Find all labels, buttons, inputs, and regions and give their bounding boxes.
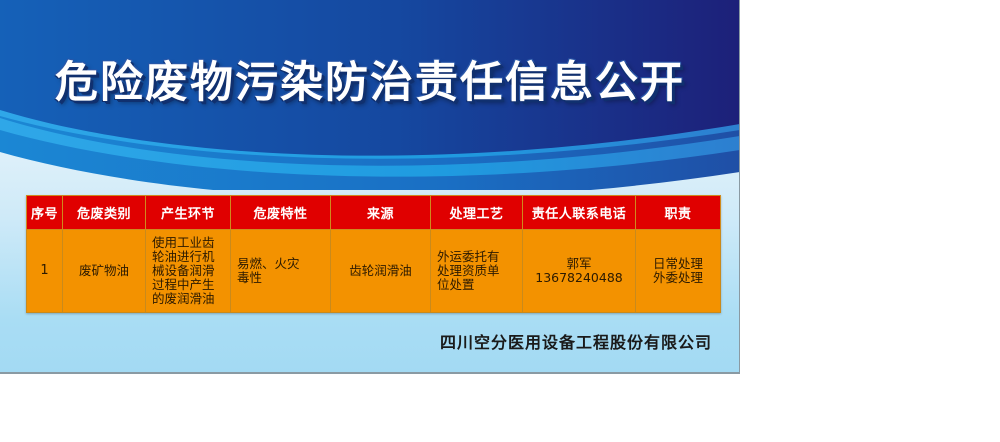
information-disclosure-poster: 危险废物污染防治责任信息公开 序号 危废类别 产生环节 危废特性 来源 处理工艺… [0, 0, 740, 374]
cell-category: 废矿物油 [63, 230, 146, 313]
cell-contact: 郭军 13678240488 [523, 230, 636, 313]
cell-treatment-line: 处理资质单 [437, 264, 519, 278]
table-header-row: 序号 危废类别 产生环节 危废特性 来源 处理工艺 责任人联系电话 职责 [27, 196, 721, 230]
column-header-seq: 序号 [27, 196, 63, 230]
column-header-hazard: 危废特性 [231, 196, 331, 230]
column-header-contact: 责任人联系电话 [523, 196, 636, 230]
cell-generation: 使用工业齿 轮油进行机 械设备润滑 过程中产生 的废润滑油 [146, 230, 231, 313]
hazardous-waste-table: 序号 危废类别 产生环节 危废特性 来源 处理工艺 责任人联系电话 职责 1 废… [26, 195, 721, 313]
cell-generation-line: 过程中产生 [152, 278, 227, 292]
cell-treatment-line: 位处置 [437, 278, 519, 292]
cell-treatment-line: 外运委托有 [437, 250, 519, 264]
cell-hazard-line: 毒性 [237, 271, 327, 285]
cell-hazard: 易燃、火灾 毒性 [231, 230, 331, 313]
cell-treatment: 外运委托有 处理资质单 位处置 [431, 230, 523, 313]
cell-duty-line: 外委处理 [639, 271, 717, 285]
column-header-duty: 职责 [636, 196, 721, 230]
cell-generation-line: 的废润滑油 [152, 292, 227, 306]
column-header-generation: 产生环节 [146, 196, 231, 230]
contact-person-name: 郭军 [526, 257, 632, 271]
cell-hazard-line: 易燃、火灾 [237, 257, 327, 271]
cell-duty: 日常处理 外委处理 [636, 230, 721, 313]
cell-source: 齿轮润滑油 [331, 230, 431, 313]
cell-generation-line: 轮油进行机 [152, 250, 227, 264]
column-header-source: 来源 [331, 196, 431, 230]
column-header-treatment: 处理工艺 [431, 196, 523, 230]
table-row: 1 废矿物油 使用工业齿 轮油进行机 械设备润滑 过程中产生 的废润滑油 易燃、… [27, 230, 721, 313]
company-name: 四川空分医用设备工程股份有限公司 [0, 329, 712, 353]
contact-phone-number: 13678240488 [526, 271, 632, 285]
cell-duty-line: 日常处理 [639, 257, 717, 271]
column-header-category: 危废类别 [63, 196, 146, 230]
cell-generation-line: 使用工业齿 [152, 236, 227, 250]
cell-seq: 1 [27, 230, 63, 313]
page-title: 危险废物污染防治责任信息公开 [0, 48, 740, 110]
cell-generation-line: 械设备润滑 [152, 264, 227, 278]
